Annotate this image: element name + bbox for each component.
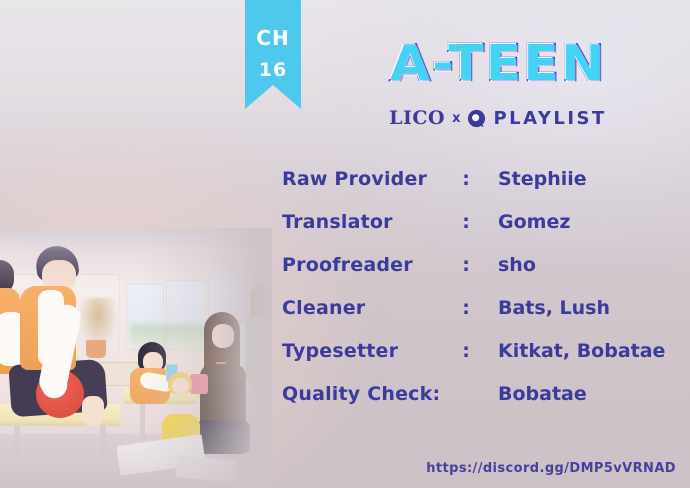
credit-row: Raw Provider : Stephiie bbox=[282, 168, 682, 211]
credit-row: Translator : Gomez bbox=[282, 211, 682, 254]
credit-value: sho bbox=[498, 254, 682, 276]
credits-table: Raw Provider : Stephiie Translator : Gom… bbox=[282, 168, 682, 426]
brand-lico-label: LICO bbox=[389, 107, 445, 129]
discord-link[interactable]: https://discord.gg/DMP5vVRNAD bbox=[426, 461, 676, 476]
credit-row: Proofreader : sho bbox=[282, 254, 682, 297]
brand-playlist-label: PLAYLIST bbox=[493, 108, 606, 129]
credit-row: Quality Check: Bobatae bbox=[282, 383, 682, 426]
series-logo: A-TEEN bbox=[338, 28, 658, 98]
credit-row: Typesetter : Kitkat, Bobatae bbox=[282, 340, 682, 383]
chapter-number: 16 bbox=[245, 59, 301, 81]
series-logo-text: A-TEEN bbox=[390, 35, 607, 92]
playlist-circle-icon bbox=[467, 109, 486, 128]
credit-value: Gomez bbox=[498, 211, 682, 233]
credit-label: Raw Provider bbox=[282, 168, 434, 190]
credit-value: Bobatae bbox=[498, 383, 682, 405]
chapter-label: CH bbox=[245, 26, 301, 50]
credit-colon: : bbox=[434, 168, 498, 190]
credit-colon: : bbox=[434, 340, 498, 362]
brand-separator: x bbox=[452, 111, 460, 126]
credit-colon: : bbox=[434, 297, 498, 319]
chapter-credits-page: CH 16 A-TEEN LICO x PLAYLIST Raw Provide… bbox=[0, 0, 690, 488]
credit-value: Kitkat, Bobatae bbox=[498, 340, 682, 362]
credit-label: Typesetter bbox=[282, 340, 434, 362]
credit-label: Cleaner bbox=[282, 297, 434, 319]
credit-value: Bats, Lush bbox=[498, 297, 682, 319]
classroom-students-illustration bbox=[0, 228, 272, 488]
credit-colon: : bbox=[434, 254, 498, 276]
credit-label: Translator bbox=[282, 211, 434, 233]
credit-label: Quality Check: bbox=[282, 383, 434, 405]
illustration-fade-overlay bbox=[0, 228, 272, 488]
brand-line: LICO x PLAYLIST bbox=[338, 104, 658, 132]
credit-label: Proofreader bbox=[282, 254, 434, 276]
credit-colon: : bbox=[434, 211, 498, 233]
credit-row: Cleaner : Bats, Lush bbox=[282, 297, 682, 340]
credit-value: Stephiie bbox=[498, 168, 682, 190]
